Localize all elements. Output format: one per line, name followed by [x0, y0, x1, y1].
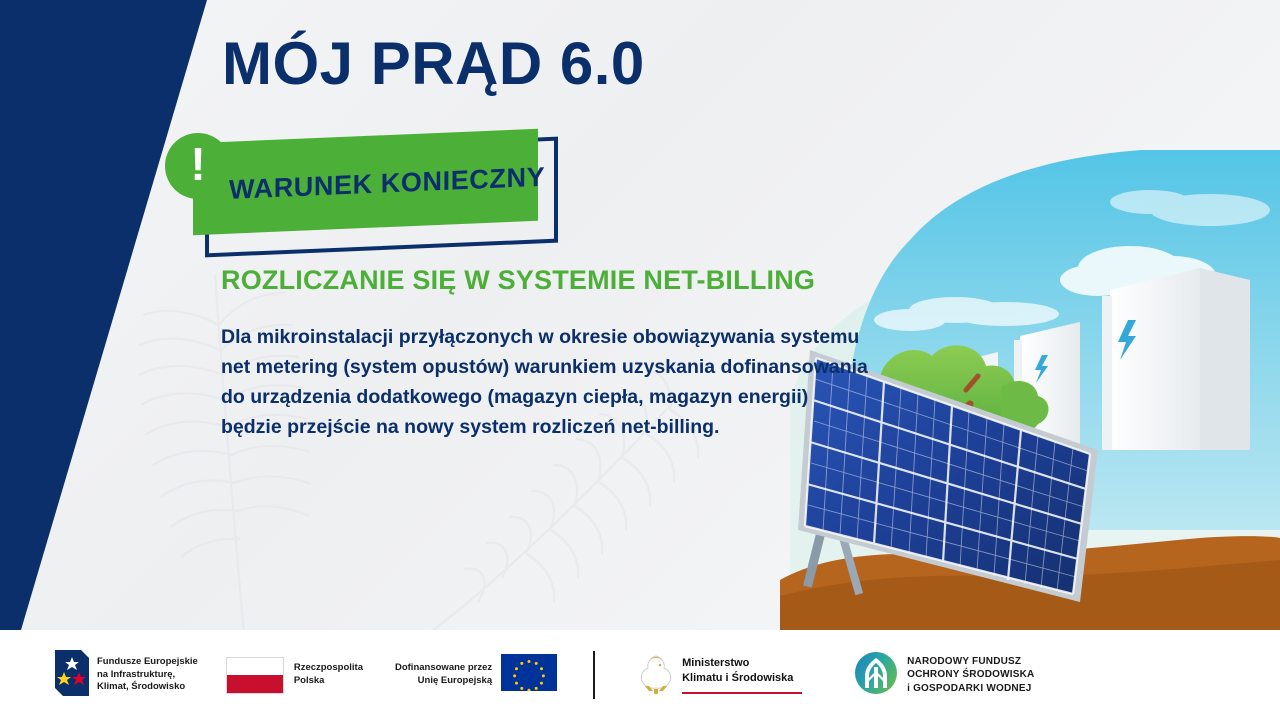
mk-line-2: Klimatu i Środowiska: [682, 671, 802, 686]
footer-logo-bar: Fundusze Europejskie na Infrastrukturę, …: [0, 630, 1280, 720]
logo-nfosigw: NARODOWY FUNDUSZ OCHRONY ŚRODOWISKA i GO…: [854, 651, 1034, 700]
fe-line-3: Klimat, Środowisko: [97, 681, 198, 694]
mk-red-rule: [682, 692, 802, 694]
poster-canvas: MÓJ PRĄD 6.0 ! WARUNEK KONIECZNY ROZLICZ…: [0, 0, 1280, 720]
rp-line-1: Rzeczpospolita: [294, 662, 363, 675]
nf-line-1: NARODOWY FUNDUSZ: [907, 655, 1034, 668]
logo-text-nf: NARODOWY FUNDUSZ OCHRONY ŚRODOWISKA i GO…: [907, 655, 1034, 695]
body-paragraph: Dla mikroinstalacji przyłączonych w okre…: [221, 322, 981, 442]
logo-ministerstwo-klimatu: Ministerstwo Klimatu i Środowiska: [637, 650, 802, 701]
logo-dofinansowane-ue: Dofinansowane przez Unię Europejską: [395, 654, 557, 696]
mk-line-1: Ministerstwo: [682, 656, 802, 671]
logo-rzeczpospolita-polska: Rzeczpospolita Polska: [226, 657, 363, 694]
logo-text-rp: Rzeczpospolita Polska: [294, 662, 363, 687]
exclamation-icon: !: [165, 133, 231, 199]
warning-badge: ! WARUNEK KONIECZNY: [165, 128, 615, 248]
page-title: MÓJ PRĄD 6.0: [222, 34, 645, 94]
logo-fundusze-europejskie: Fundusze Europejskie na Infrastrukturę, …: [55, 650, 198, 701]
ue-line-2: Unię Europejską: [395, 675, 492, 688]
eu-flag-icon: [501, 654, 557, 696]
polish-flag-icon: [226, 657, 284, 694]
nf-line-2: OCHRONY ŚRODOWISKA: [907, 668, 1034, 681]
subheading: ROZLICZANIE SIĘ W SYSTEMIE NET-BILLING: [221, 265, 815, 296]
body-line-2: net metering (system opustów) warunkiem …: [221, 352, 981, 382]
body-line-4: będzie przejście na nowy system rozlicze…: [221, 412, 981, 442]
body-line-3: do urządzenia dodatkowego (magazyn ciepł…: [221, 382, 981, 412]
logo-text-ue: Dofinansowane przez Unię Europejską: [395, 662, 492, 687]
footer-divider: [593, 651, 595, 699]
body-line-1: Dla mikroinstalacji przyłączonych w okre…: [221, 322, 981, 352]
fe-line-2: na Infrastrukturę,: [97, 669, 198, 682]
rp-line-2: Polska: [294, 675, 363, 688]
exclamation-glyph: !: [165, 133, 231, 199]
polish-eagle-icon: [637, 650, 675, 701]
nf-line-3: i GOSPODARKI WODNEJ: [907, 682, 1034, 695]
eu-funds-stars-icon: [55, 650, 89, 701]
logo-text-mk: Ministerstwo Klimatu i Środowiska: [675, 656, 802, 693]
logo-text-fundusze: Fundusze Europejskie na Infrastrukturę, …: [97, 656, 198, 694]
ue-line-1: Dofinansowane przez: [395, 662, 492, 675]
fe-line-1: Fundusze Europejskie: [97, 656, 198, 669]
nfosigw-tree-icon: [854, 651, 898, 700]
